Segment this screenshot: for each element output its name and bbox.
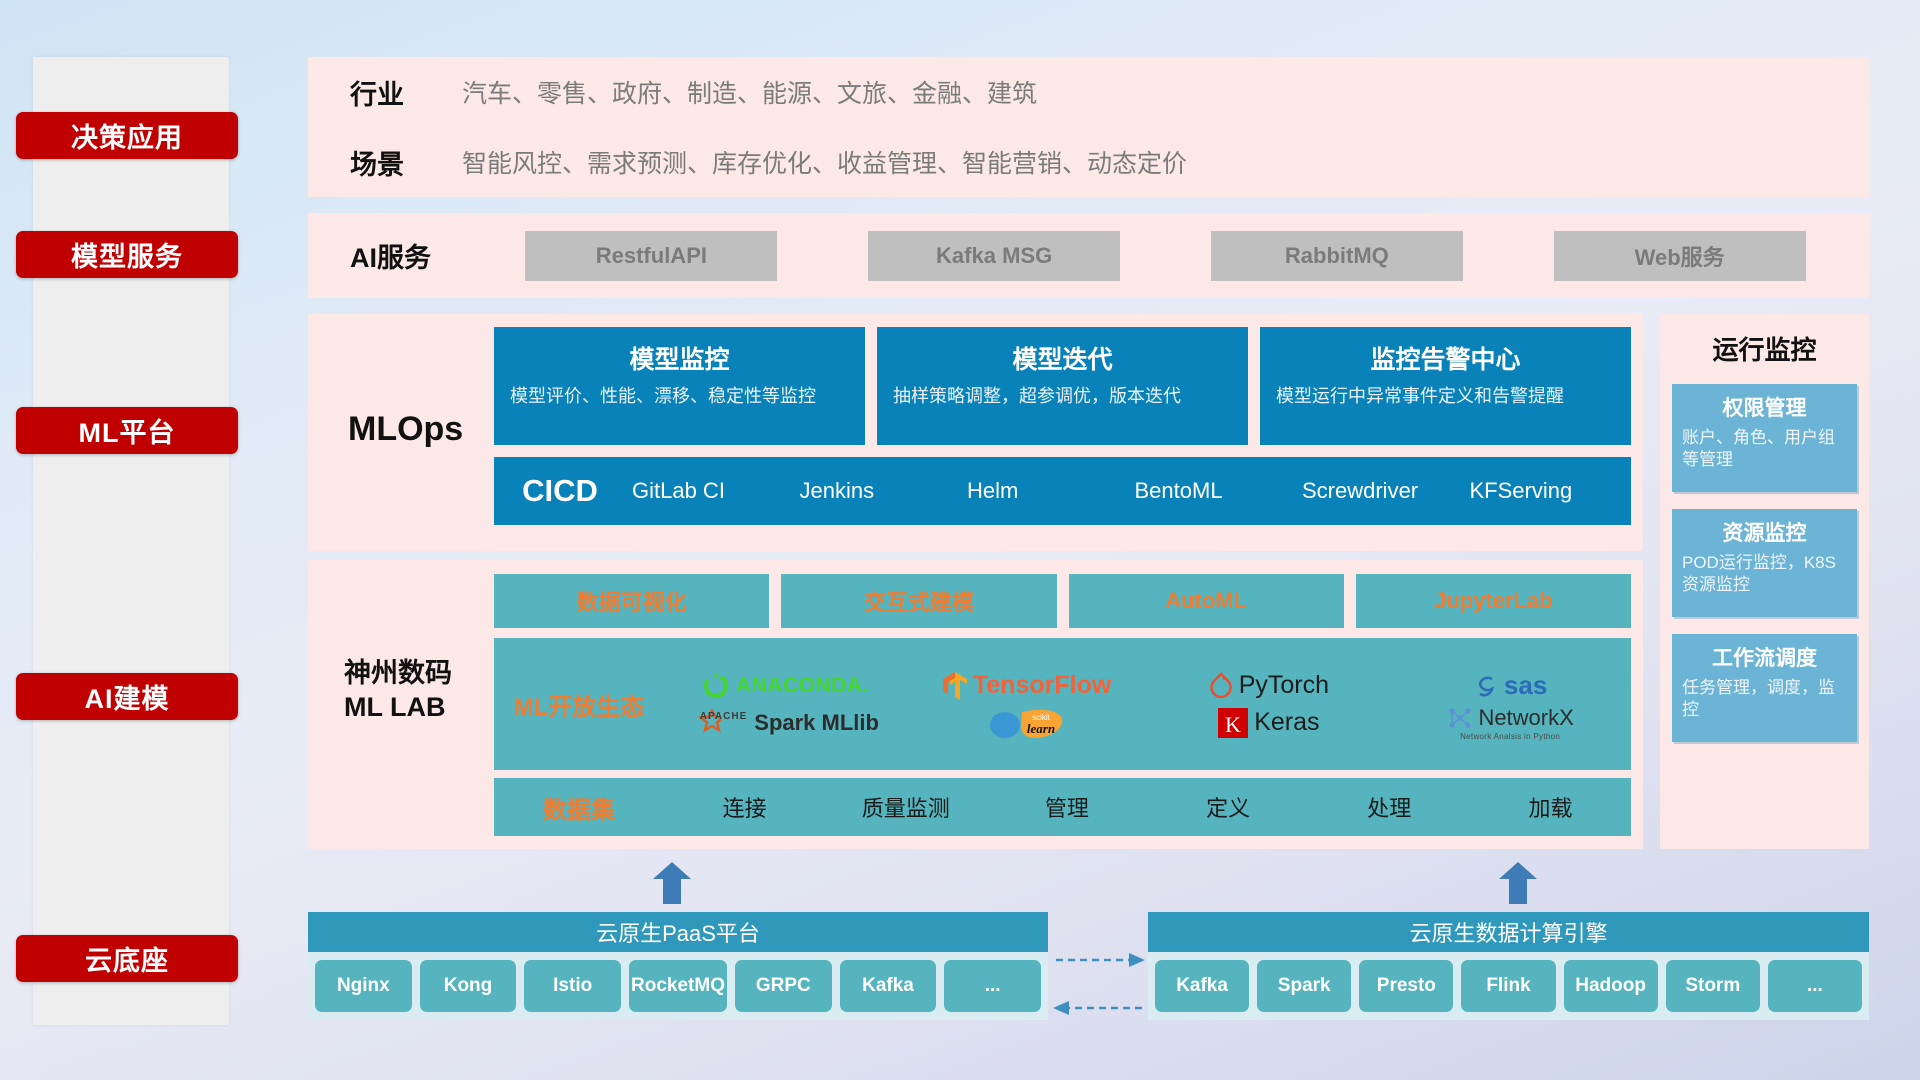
- industry-label: 行业: [350, 73, 462, 112]
- scikit-learn-logo: scikit learn: [988, 706, 1066, 740]
- card-desc: 账户、角色、用户组等管理: [1682, 427, 1847, 471]
- left-rail: [33, 57, 229, 1025]
- business-panel: 行业 汽车、零售、政府、制造、能源、文旅、金融、建筑 场景 智能风控、需求预测、…: [308, 57, 1869, 197]
- industry-row: 行业 汽车、零售、政府、制造、能源、文旅、金融、建筑: [308, 57, 1869, 127]
- cloud-paas-group: 云原生PaaS平台 Nginx Kong Istio RocketMQ GRPC…: [308, 912, 1048, 1020]
- card-title: 工作流调度: [1682, 642, 1847, 672]
- card-desc: 任务管理，调度，监控: [1682, 677, 1847, 721]
- mlops-card-model-monitoring[interactable]: 模型监控 模型评价、性能、漂移、稳定性等监控: [494, 327, 865, 445]
- ml-lab-panel: 神州数码 ML LAB 数据可视化 交互式建模 AutoML JupyterLa…: [308, 560, 1643, 849]
- cloud-paas-chips: Nginx Kong Istio RocketMQ GRPC Kafka ...: [308, 952, 1048, 1020]
- monitor-card-permission[interactable]: 权限管理 账户、角色、用户组等管理: [1672, 384, 1857, 492]
- card-desc: 模型运行中异常事件定义和告警提醒: [1276, 384, 1615, 408]
- cicd-item-gitlab-ci[interactable]: GitLab CI: [626, 480, 794, 502]
- card-desc: POD运行监控，K8S资源监控: [1682, 552, 1847, 596]
- scikit-learn-mark-icon: scikit learn: [988, 706, 1066, 740]
- ml-ecosystem-band: ML开放生态 ANACONDA. TensorFlow: [494, 638, 1631, 770]
- engine-up-arrow-icon: [1499, 862, 1537, 904]
- cloud-chip-nginx[interactable]: Nginx: [315, 960, 412, 1012]
- card-title: 权限管理: [1682, 392, 1847, 422]
- engine-chip-presto[interactable]: Presto: [1359, 960, 1453, 1012]
- anaconda-mark-icon: [701, 671, 731, 701]
- scenario-label: 场景: [350, 143, 462, 182]
- rail-chip-ai-modeling[interactable]: AI建模: [16, 673, 238, 720]
- tool-chip-interactive-modeling[interactable]: 交互式建模: [781, 574, 1056, 628]
- cloud-chip-kong[interactable]: Kong: [420, 960, 517, 1012]
- sas-logo-text: sas: [1504, 670, 1547, 701]
- scenario-text: 智能风控、需求预测、库存优化、收益管理、智能营销、动态定价: [462, 144, 1187, 180]
- cloud-chip-rocketmq[interactable]: RocketMQ: [629, 960, 727, 1012]
- tensorflow-mark-icon: [942, 671, 968, 701]
- card-desc: 抽样策略调整，超参调优，版本迭代: [893, 384, 1232, 408]
- ml-lab-label-line2: ML LAB: [344, 691, 502, 725]
- ai-service-items: RestfulAPI Kafka MSG RabbitMQ Web服务: [462, 231, 1869, 281]
- dataset-item-manage[interactable]: 管理: [986, 791, 1147, 823]
- pytorch-logo: PyTorch: [1208, 671, 1329, 701]
- networkx-logo-text: NetworkX: [1478, 705, 1573, 731]
- cicd-bar: CICD GitLab CI Jenkins Helm BentoML Scre…: [494, 457, 1631, 525]
- rail-chip-decision[interactable]: 决策应用: [16, 112, 238, 159]
- mlops-label: MLOps: [348, 410, 498, 449]
- ml-lab-label-line1: 神州数码: [344, 657, 502, 691]
- cicd-item-kfserving[interactable]: KFServing: [1464, 480, 1632, 502]
- card-title: 资源监控: [1682, 517, 1847, 547]
- dataset-item-connect[interactable]: 连接: [664, 791, 825, 823]
- sas-logo: sas: [1473, 670, 1547, 701]
- card-title: 模型迭代: [893, 340, 1232, 376]
- dataset-band: 数据集 连接 质量监测 管理 定义 处理 加载: [494, 778, 1631, 836]
- engine-chip-more[interactable]: ...: [1768, 960, 1862, 1012]
- keras-logo-text: Keras: [1254, 708, 1319, 737]
- networkx-logo: NetworkX Network Analsis in Python: [1446, 704, 1573, 741]
- cloud-engine-title: 云原生数据计算引擎: [1148, 912, 1869, 952]
- svg-text:K: K: [1225, 712, 1241, 737]
- tool-chip-data-visualization[interactable]: 数据可视化: [494, 574, 769, 628]
- paas-up-arrow-icon: [653, 862, 691, 904]
- ai-service-label: AI服务: [350, 236, 462, 275]
- service-chip-web[interactable]: Web服务: [1554, 231, 1806, 281]
- ml-lab-label: 神州数码 ML LAB: [344, 657, 502, 725]
- cicd-item-bentoml[interactable]: BentoML: [1129, 480, 1297, 502]
- cloud-chip-istio[interactable]: Istio: [524, 960, 621, 1012]
- networkx-graph-icon: [1446, 704, 1474, 732]
- keras-mark-icon: K: [1217, 707, 1249, 739]
- engine-chip-kafka[interactable]: Kafka: [1155, 960, 1249, 1012]
- svg-text:learn: learn: [1027, 721, 1055, 736]
- monitor-card-resource[interactable]: 资源监控 POD运行监控，K8S资源监控: [1672, 509, 1857, 617]
- industry-text: 汽车、零售、政府、制造、能源、文旅、金融、建筑: [462, 74, 1037, 110]
- engine-chip-storm[interactable]: Storm: [1666, 960, 1760, 1012]
- runtime-monitor-panel: 运行监控 权限管理 账户、角色、用户组等管理 资源监控 POD运行监控，K8S资…: [1660, 314, 1869, 849]
- rail-chip-ml-platform[interactable]: ML平台: [16, 407, 238, 454]
- networkx-tagline: Network Analsis in Python: [1460, 732, 1560, 741]
- card-title: 模型监控: [510, 340, 849, 376]
- bidirectional-dashed-arrows-icon: [1053, 938, 1145, 1030]
- engine-chip-hadoop[interactable]: Hadoop: [1564, 960, 1658, 1012]
- ai-service-panel: AI服务 RestfulAPI Kafka MSG RabbitMQ Web服务: [308, 213, 1869, 298]
- mlops-card-model-iteration[interactable]: 模型迭代 抽样策略调整，超参调优，版本迭代: [877, 327, 1248, 445]
- cicd-title: CICD: [494, 473, 626, 509]
- apache-text: APACHE: [700, 711, 747, 722]
- mlops-cards: 模型监控 模型评价、性能、漂移、稳定性等监控 模型迭代 抽样策略调整，超参调优，…: [494, 327, 1631, 445]
- ml-ecosystem-label: ML开放生态: [494, 687, 664, 722]
- dataset-item-process[interactable]: 处理: [1309, 791, 1470, 823]
- service-chip-kafka-msg[interactable]: Kafka MSG: [868, 231, 1120, 281]
- cloud-chip-more[interactable]: ...: [944, 960, 1041, 1012]
- spark-mllib-logo-text: Spark MLlib: [754, 710, 879, 736]
- service-chip-restfulapi[interactable]: RestfulAPI: [525, 231, 777, 281]
- cicd-item-jenkins[interactable]: Jenkins: [794, 480, 962, 502]
- cloud-chip-grpc[interactable]: GRPC: [735, 960, 832, 1012]
- pytorch-mark-icon: [1208, 671, 1234, 701]
- card-title: 监控告警中心: [1276, 340, 1615, 376]
- cloud-engine-group: 云原生数据计算引擎 Kafka Spark Presto Flink Hadoo…: [1148, 912, 1869, 1020]
- service-chip-rabbitmq[interactable]: RabbitMQ: [1211, 231, 1463, 281]
- anaconda-logo-text: ANACONDA.: [736, 674, 869, 698]
- rail-chip-cloud-base[interactable]: 云底座: [16, 935, 238, 982]
- pytorch-logo-text: PyTorch: [1239, 671, 1329, 700]
- dataset-label: 数据集: [494, 790, 664, 825]
- dataset-item-define[interactable]: 定义: [1148, 791, 1309, 823]
- tensorflow-logo: TensorFlow: [942, 671, 1111, 701]
- scenario-row: 场景 智能风控、需求预测、库存优化、收益管理、智能营销、动态定价: [308, 127, 1869, 197]
- mlops-card-alert-center[interactable]: 监控告警中心 模型运行中异常事件定义和告警提醒: [1260, 327, 1631, 445]
- cloud-paas-title: 云原生PaaS平台: [308, 912, 1048, 952]
- tool-chip-automl[interactable]: AutoML: [1069, 574, 1344, 628]
- cloud-chip-kafka[interactable]: Kafka: [840, 960, 937, 1012]
- card-desc: 模型评价、性能、漂移、稳定性等监控: [510, 384, 849, 408]
- engine-chip-spark[interactable]: Spark: [1257, 960, 1351, 1012]
- ml-lab-tools: 数据可视化 交互式建模 AutoML JupyterLab: [494, 574, 1631, 628]
- spark-mllib-logo: APACHE Spark MLlib: [691, 709, 879, 737]
- cicd-item-screwdriver[interactable]: Screwdriver: [1296, 480, 1464, 502]
- mlops-panel: MLOps 模型监控 模型评价、性能、漂移、稳定性等监控 模型迭代 抽样策略调整…: [308, 314, 1643, 551]
- rail-chip-model-service[interactable]: 模型服务: [16, 231, 238, 278]
- anaconda-logo: ANACONDA.: [701, 671, 869, 701]
- cicd-item-helm[interactable]: Helm: [961, 480, 1129, 502]
- runtime-monitor-title: 运行监控: [1660, 330, 1869, 367]
- sas-mark-icon: [1473, 673, 1499, 699]
- dataset-item-quality[interactable]: 质量监测: [825, 791, 986, 823]
- tensorflow-logo-text: TensorFlow: [973, 671, 1111, 700]
- cloud-engine-chips: Kafka Spark Presto Flink Hadoop Storm ..…: [1148, 952, 1869, 1020]
- ml-ecosystem-logos: ANACONDA. TensorFlow PyTorch: [664, 667, 1631, 741]
- engine-chip-flink[interactable]: Flink: [1461, 960, 1555, 1012]
- dataset-item-load[interactable]: 加载: [1470, 791, 1631, 823]
- tool-chip-jupyterlab[interactable]: JupyterLab: [1356, 574, 1631, 628]
- keras-logo: K Keras: [1217, 707, 1319, 739]
- monitor-card-workflow[interactable]: 工作流调度 任务管理，调度，监控: [1672, 634, 1857, 742]
